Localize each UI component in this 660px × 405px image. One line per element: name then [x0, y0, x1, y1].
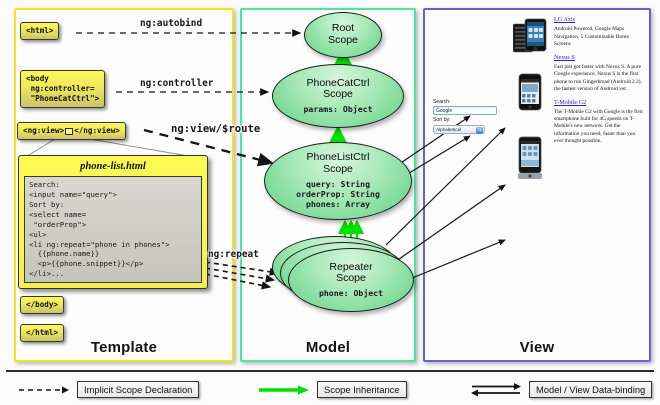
- tag-ng-view-prefix: <ng:view>: [23, 126, 64, 135]
- ng-view-placeholder-icon: [65, 128, 73, 135]
- phone-thumbnail-lg-axis: [513, 18, 547, 58]
- phone-snippet: Fast just got faster with Nexus S. A pur…: [554, 64, 644, 93]
- scope-phonelistctrl-props: query: String orderProp: String phones: …: [296, 179, 380, 210]
- legend-divider: [6, 370, 654, 372]
- tag-body-open: <body ng:controller= "PhoneCatCtrl">: [20, 70, 105, 108]
- label-ng-controller: ng:controller: [140, 78, 213, 89]
- callout-code: Search: <input name="query"> Sort by: <s…: [24, 176, 202, 283]
- phone-snippet: Android Powered, Google Maps Navigation,…: [554, 26, 644, 47]
- scope-phonelistctrl-title: PhoneListCtrlScope: [306, 152, 369, 176]
- callout-title: phone-list.html: [24, 160, 202, 176]
- phone-snippet: The T-Mobile G2 with Google is the first…: [554, 109, 644, 145]
- scope-root-title: RootScope: [328, 23, 358, 47]
- label-ng-repeat: ng:repeat: [208, 249, 259, 260]
- sort-select-value: Alphabetical: [436, 127, 461, 132]
- scope-repeater-title: RepeaterScope: [329, 262, 372, 286]
- dashed-arrow-icon: [18, 384, 70, 396]
- angularjs-architecture-diagram: Template Model View: [0, 0, 660, 405]
- column-label-view: View: [425, 339, 649, 356]
- phone-list-callout: phone-list.html Search: <input name="que…: [18, 155, 208, 289]
- search-input[interactable]: Google: [433, 106, 497, 115]
- label-ng-autobind: ng:autobind: [140, 18, 202, 29]
- double-arrow-icon: [470, 382, 522, 398]
- phone-name-link[interactable]: Nexus S: [554, 54, 644, 61]
- search-label: Search:: [433, 99, 501, 105]
- legend-label-inheritance: Scope Inheritance: [317, 381, 407, 398]
- scope-root: RootScope: [304, 12, 382, 58]
- legend-item-scope-inheritance: Scope Inheritance: [258, 381, 407, 398]
- green-arrow-icon: [258, 384, 310, 396]
- search-panel: Search: Google Sort by: Alphabetical ⇅: [433, 99, 501, 134]
- list-item: Nexus S Fast just got faster with Nexus …: [554, 54, 644, 93]
- phone-thumbnail-nexus-s: [516, 73, 544, 111]
- phone-name-link[interactable]: LG Axis: [554, 16, 644, 23]
- list-item: LG Axis Android Powered, Google Maps Nav…: [554, 16, 644, 48]
- phone-thumbnail-tmobile-g2: [516, 136, 544, 180]
- tag-ng-view-suffix: </ng:view>: [74, 126, 120, 135]
- scope-phonecatctrl-title: PhoneCatCtrlScope: [306, 78, 369, 102]
- view-browser-content: Search: Google Sort by: Alphabetical ⇅: [430, 16, 644, 336]
- scope-phonecatctrl-props: params: Object: [303, 104, 372, 114]
- scope-repeater: RepeaterScope phone: Object: [288, 248, 414, 312]
- tag-body-close: </body>: [20, 296, 64, 314]
- legend-label-databinding: Model / View Data-binding: [529, 381, 652, 398]
- phone-list: LG Axis Android Powered, Google Maps Nav…: [554, 16, 644, 151]
- sort-label: Sort by:: [433, 117, 501, 123]
- list-item: T-Mobile G2 The T-Mobile G2 with Google …: [554, 99, 644, 145]
- tag-html-open: <html>: [20, 22, 59, 40]
- column-label-model: Model: [242, 339, 414, 356]
- legend-item-implicit-scope-declaration: Implicit Scope Declaration: [18, 381, 199, 398]
- sort-select[interactable]: Alphabetical ⇅: [433, 125, 485, 134]
- chevron-updown-icon: ⇅: [476, 127, 483, 134]
- legend-label-implicit: Implicit Scope Declaration: [77, 381, 199, 398]
- scope-phonelistctrl: PhoneListCtrlScope query: String orderPr…: [264, 142, 412, 220]
- legend: Implicit Scope Declaration Scope Inherit…: [0, 370, 660, 405]
- scope-repeater-props: phone: Object: [319, 288, 383, 298]
- tag-ng-view: <ng:view></ng:view>: [17, 122, 126, 140]
- scope-phonecatctrl: PhoneCatCtrlScope params: Object: [272, 64, 404, 128]
- label-ng-view-route: ng:view/$route: [171, 123, 260, 135]
- tag-html-close: </html>: [20, 324, 64, 342]
- phone-name-link[interactable]: T-Mobile G2: [554, 99, 644, 106]
- legend-item-model-view-data-binding: Model / View Data-binding: [470, 381, 652, 398]
